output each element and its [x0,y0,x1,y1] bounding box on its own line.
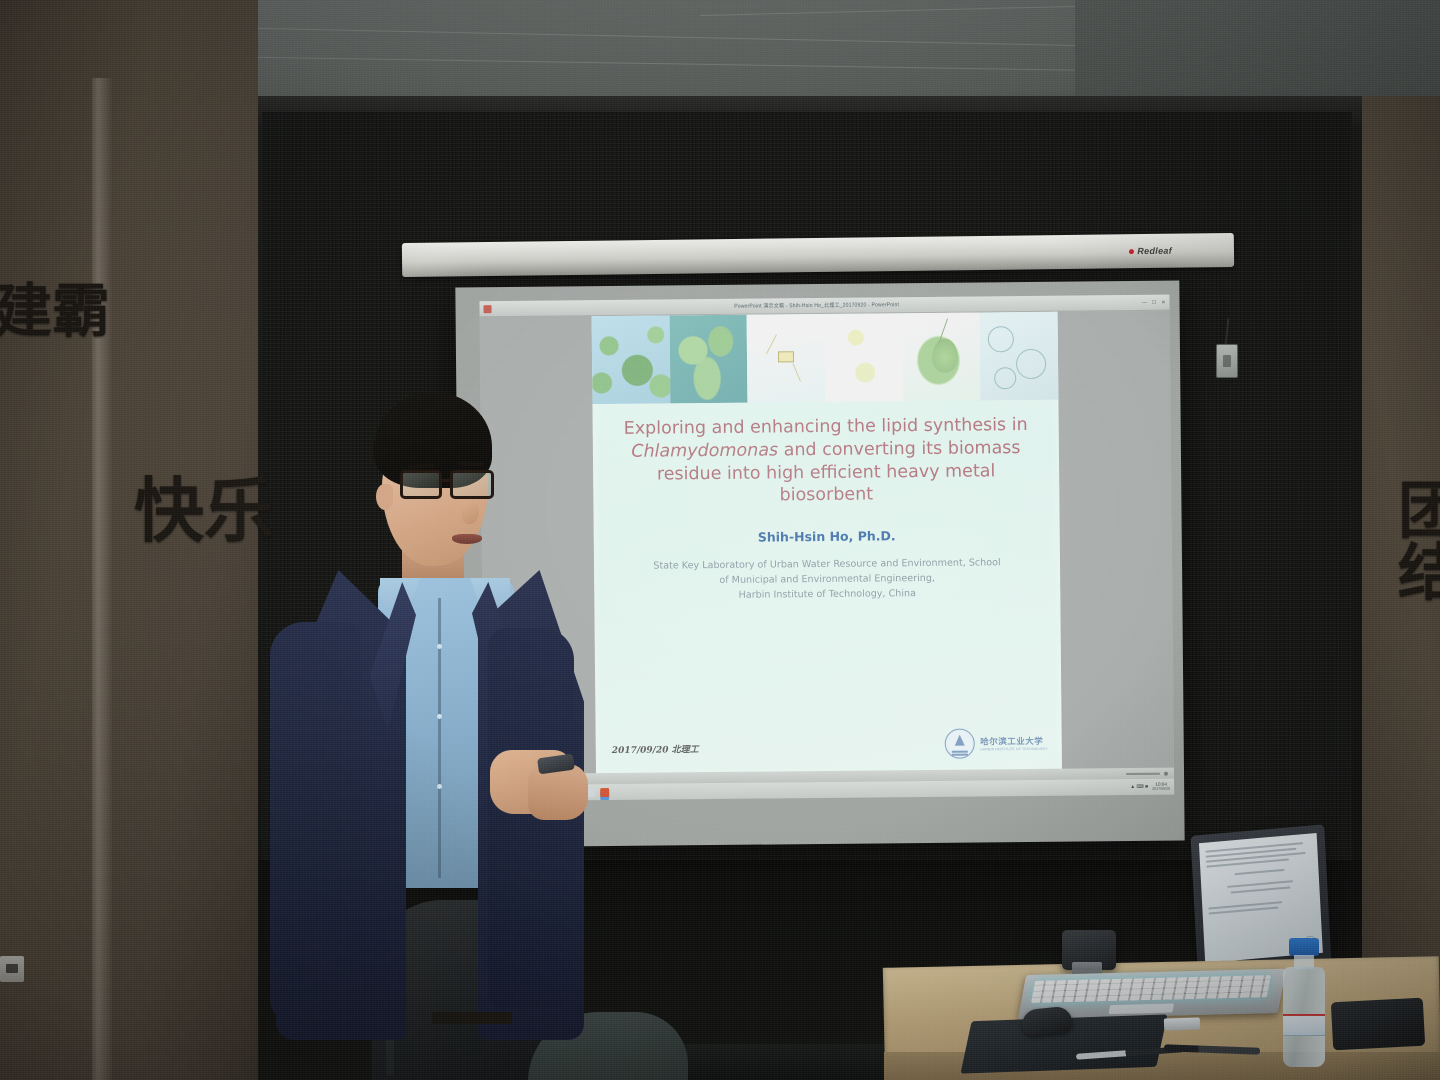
university-name-english: HARBIN INSTITUTE OF TECHNOLOGY [980,747,1048,752]
av-control-panel[interactable] [1216,344,1238,378]
shirt-button-3 [437,784,442,789]
shirt-button-1 [437,644,442,649]
algae-photo-4 [825,313,904,402]
cell-cluster2-icon [855,363,875,383]
bottle-label [1283,1014,1325,1036]
university-name: 哈尔滨工业大学 [980,735,1048,748]
slide-author: Shih-Hsin Ho, Ph.D. [594,527,1060,546]
euglena-icon [932,339,958,373]
algae-photo-5 [902,312,981,401]
tray-glyphs[interactable]: ▲ ⌨ ■ [1130,784,1148,790]
equipment-pouch [1331,998,1425,1051]
presenter-belt [432,1012,512,1024]
glasses-lens-left [400,470,442,499]
algae-photo-1 [592,315,671,404]
close-button[interactable]: ✕ [1161,299,1165,305]
wall-pillar [92,78,112,1080]
algae-photo-3 [747,314,826,403]
slide-footer: 2017/09/20 北理工 哈尔滨工业大学 HARBIN INSTITUTE … [595,700,1062,778]
active-powerpoint-icon[interactable] [600,788,609,797]
title-species-italic: Chlamydomonas [631,440,778,461]
title-line-2-rest: and converting its biomass [778,438,1021,460]
flagellum-icon [766,335,777,355]
diatom-icon [778,351,794,362]
title-line-2: Chlamydomonas and converting its biomass [617,437,1035,464]
slide-date-footer: 2017/09/20 北理工 [612,742,699,756]
system-tray[interactable]: ▲ ⌨ ■ 10:04 2017/09/20 [1130,782,1170,791]
tray-clock[interactable]: 10:04 2017/09/20 [1152,782,1170,791]
title-slide: Exploring and enhancing the lipid synthe… [592,312,1062,778]
spirulina-coil2-icon [1016,349,1046,379]
maximize-button[interactable]: ☐ [1152,299,1157,305]
power-outlet [0,956,24,982]
presenter-hand-right [528,764,588,820]
zoom-slider-knob[interactable] [1164,771,1168,775]
laptop-keyboard[interactable] [1031,975,1271,1003]
clock-date: 2017/09/20 [1152,787,1170,791]
algae-photo-2 [669,315,748,404]
affiliation-line-3: Harbin Institute of Technology, China [624,586,1030,605]
title-line-4: biosorbent [617,482,1035,509]
shirt-placket [438,598,441,878]
redleaf-brand: Redleaf [1129,246,1172,257]
microalgae-banner-image [592,312,1059,404]
calligraphy-left-upper: 建霸 [0,282,110,340]
presenter-mouth [452,534,482,544]
flagellum2-icon [792,362,801,381]
minimize-button[interactable]: — [1142,299,1147,305]
algae-photo-6 [980,312,1058,401]
bottle-cap [1289,938,1319,956]
title-line-3: residue into high efficient heavy metal [617,459,1035,486]
glasses-icon [400,470,500,500]
laptop-trackpad[interactable] [1108,1003,1174,1014]
spirulina-coil3-icon [994,367,1016,389]
powerpoint-app-icon [483,305,491,313]
presenter-arm-left [270,622,362,1022]
usb-dongle [1164,1017,1200,1030]
glasses-lens-right [450,470,494,499]
presenter-ear [376,484,393,510]
conference-room-photo: 建霸 快乐 团结 Redleaf PowerPoint 演示文稿 - Shih-… [0,0,1440,1080]
calligraphy-right: 团结 [1398,480,1440,604]
cell-cluster-icon [848,329,864,345]
shirt-button-2 [437,714,442,719]
water-bottle [1280,938,1328,1068]
zoom-slider[interactable] [1126,772,1160,774]
brand-dot-icon [1129,249,1134,254]
spirulina-coil-icon [988,326,1014,352]
university-logo: 哈尔滨工业大学 HARBIN INSTITUTE OF TECHNOLOGY [945,728,1048,759]
brand-label: Redleaf [1137,246,1172,256]
slide-affiliation: State Key Laboratory of Urban Water Reso… [594,556,1060,605]
slide-title: Exploring and enhancing the lipid synthe… [593,414,1060,509]
hit-seal-icon [945,729,975,759]
